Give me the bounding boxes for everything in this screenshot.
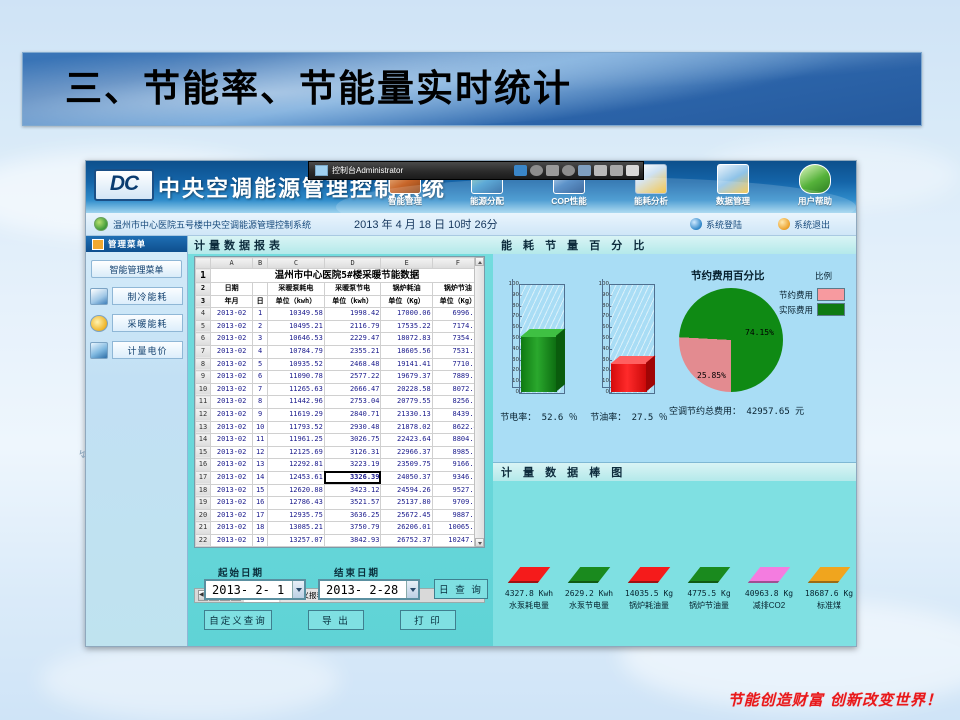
row-number[interactable]: 17 [196,471,211,484]
cell-pump-power[interactable]: 12786.43 [268,497,325,510]
header-cell: 单位（Kg） [381,295,432,308]
start-date-label: 起始日期 [218,565,264,579]
col-letter[interactable]: C [268,258,325,269]
cell-year-month[interactable]: 2013-02 [211,434,253,447]
energy-percentage-title: 能 耗 节 量 百 分 比 [493,236,856,254]
table-row[interactable]: 82013-02510935.522468.4819141.417710.23 [196,358,484,371]
table-row[interactable]: 62013-02310646.532229.4718072.837354.04 [196,333,484,346]
table-row[interactable]: 222013-021913257.073842.9326752.3710247.… [196,534,484,547]
cell-year-month[interactable]: 2013-02 [211,320,253,333]
header-cell: 日期 [211,283,253,296]
sidebar-item-cooling-consumption[interactable]: 制冷能耗 [90,287,183,305]
nav-label: COP性能 [532,195,606,207]
folder-icon[interactable] [546,165,559,176]
console-tool-icons[interactable] [514,165,643,176]
cell-pump-power[interactable]: 12620.88 [268,484,325,497]
console-titlebar[interactable]: 控制台Administrator [308,161,644,180]
bar-label: 锅炉耗油量 [619,600,679,611]
corner-cell [196,258,211,269]
vertical-scrollbar[interactable] [474,257,484,547]
console-title: 控制台Administrator [332,165,403,176]
app-body: 管理菜单 智能管理菜单 制冷能耗 采暖能耗 计量电价 计量数据报表 [86,236,856,647]
cell-pump-saving[interactable]: 2577.22 [324,371,381,384]
cell-boiler-oil[interactable]: 18605.56 [381,345,432,358]
table-row[interactable]: 142013-021111961.253026.7522423.648804.3… [196,434,484,447]
slide-footer: 节能创造财富 创新改变世界！ [728,689,942,710]
gauge-frame [609,284,655,394]
metering-bar-item: 18687.6 Kg标准煤 [799,567,857,611]
report-panel: 计量数据报表 A B C D E F [188,236,493,647]
row-number[interactable]: 6 [196,333,211,346]
legend-label: 节约费用 [779,289,813,301]
move-icon[interactable] [578,165,591,176]
metering-bar-title: 计 量 数 据 棒 图 [493,463,856,481]
monitor-icon [315,165,328,176]
sidebar-item-intelligent-menu[interactable]: 智能管理菜单 [91,260,182,278]
cell-year-month[interactable]: 2013-02 [211,459,253,472]
cell-boiler-oil[interactable]: 20779.55 [381,396,432,409]
table-row[interactable]: 102013-02711265.632666.4720228.588072.62 [196,383,484,396]
cell-pump-power[interactable]: 11793.52 [268,421,325,434]
cell-boiler-oil[interactable]: 17535.22 [381,320,432,333]
cell-pump-power[interactable]: 10349.58 [268,308,325,321]
sun-icon [90,315,108,332]
cell-pump-power[interactable]: 13085.21 [268,522,325,535]
app-logo: DC [94,169,154,201]
cell-pump-saving[interactable]: 2753.04 [324,396,381,409]
gauge-frame [519,284,565,394]
site-name: 温州市中心医院五号楼中央空调能源管理控制系统 [113,218,311,231]
cell-day[interactable]: 13 [253,459,268,472]
energy-percentage-panel: 能 耗 节 量 百 分 比 10090 8070 6050 4030 2010 … [493,236,856,463]
sidebar-item-heating-consumption[interactable]: 采暖能耗 [90,314,183,332]
table-row[interactable]: 152013-021212125.693126.3122966.378985.2… [196,446,484,459]
cell-pump-power[interactable]: 11265.63 [268,383,325,396]
header-row-1: 2 日期 采暖泵耗电 采暖泵节电 锅炉耗油 锅炉节油 [196,283,484,296]
cell-pump-power[interactable]: 11619.29 [268,408,325,421]
cell-pump-saving[interactable]: 1998.42 [324,308,381,321]
sidebar-item-label: 采暖能耗 [112,314,183,332]
nav-item-data-management[interactable]: 数据管理 [696,163,770,207]
cell-pump-saving[interactable]: 3842.93 [324,534,381,547]
metering-bar-item: 2629.2 Kwh水泵节电量 [559,567,619,611]
logout-icon [778,218,790,230]
cell-year-month[interactable]: 2013-02 [211,534,253,547]
total-savings-text: 空调节约总费用： 42957.65 元 [669,404,804,417]
cell-pump-saving[interactable]: 3126.31 [324,446,381,459]
scroll-up-icon[interactable] [475,257,484,266]
cell-boiler-oil[interactable]: 24050.37 [381,471,432,484]
cell-year-month[interactable]: 2013-02 [211,497,253,510]
cell-pump-saving[interactable]: 2930.48 [324,421,381,434]
header-cell: 锅炉耗油 [381,283,432,296]
gauge-bar-oil [611,363,647,392]
table-row[interactable]: 112013-02811442.962753.0420779.558256.28 [196,396,484,409]
sidebar-header: 管理菜单 [86,236,187,252]
cell-year-month[interactable]: 2013-02 [211,345,253,358]
end-date-value: 2013- 2-28 [326,583,398,597]
table-row[interactable]: 132013-021011793.522930.4821878.028622.4… [196,421,484,434]
nav-label: 智能管理 [368,195,442,207]
cell-pump-power[interactable]: 10495.21 [268,320,325,333]
system-login-label: 系统登陆 [706,218,742,231]
sub-header: 温州市中心医院五号楼中央空调能源管理控制系统 2013 年 4 月 18 日 1… [86,213,856,236]
table-row[interactable]: 192013-021612786.433521.5725137.809709.0… [196,497,484,510]
row-number[interactable]: 19 [196,497,211,510]
report-panel-title: 计量数据报表 [188,236,493,254]
cell-pump-saving[interactable]: 2229.47 [324,333,381,346]
sidebar-item-label: 计量电价 [112,341,183,359]
cell-pump-saving[interactable]: 3223.19 [324,459,381,472]
power-saving-caption: 节电率： 52.6 ％ [491,410,587,423]
table-row[interactable]: 122013-02911619.292840.7121330.138439.81 [196,408,484,421]
globe-icon [94,217,108,231]
col-letter[interactable]: A [211,258,253,269]
bar-label: 水泵耗电量 [499,600,559,611]
start-date-value: 2013- 2- 1 [212,583,284,597]
table-row[interactable]: 92013-02611090.782577.2219679.377889.55 [196,371,484,384]
sidebar-header-label: 管理菜单 [108,238,146,250]
table-row[interactable]: 52013-02210495.212116.7917535.227174.84 [196,320,484,333]
col-letter[interactable]: E [381,258,432,269]
end-date-input[interactable]: 2013- 2-28 [318,579,420,600]
row-number[interactable]: 11 [196,396,211,409]
row-number[interactable]: 21 [196,522,211,535]
col-letter[interactable]: D [324,258,381,269]
bar-value: 18687.6 Kg [799,589,857,598]
cell-day[interactable]: 19 [253,534,268,547]
page-title: 三、节能率、节能量实时统计 [23,53,921,125]
chevron-down-icon[interactable] [406,581,418,598]
cell-pump-power[interactable]: 12935.75 [268,509,325,522]
cell-pump-saving[interactable]: 2840.71 [324,408,381,421]
cell-pump-power[interactable]: 10935.52 [268,358,325,371]
row-number[interactable]: 15 [196,446,211,459]
row-number[interactable]: 3 [196,295,211,308]
gauge-oil-saving: 10090 8070 6050 4030 2010 0 [593,278,659,402]
cell-boiler-oil[interactable]: 22423.64 [381,434,432,447]
table-row[interactable]: 182013-021512620.883423.1224594.269527.8… [196,484,484,497]
table-row[interactable]: 72013-02410784.792355.2118605.567531.62 [196,345,484,358]
decorative-mark: ↯ [78,448,87,461]
header-cell [253,283,268,296]
sheet-title: 温州市中心医院5#楼采暖节能数据 [211,269,484,283]
cell-pump-power[interactable]: 11442.96 [268,396,325,409]
cell-day[interactable]: 3 [253,333,268,346]
cell-year-month[interactable]: 2013-02 [211,408,253,421]
cell-day[interactable]: 4 [253,345,268,358]
cell-boiler-oil[interactable]: 20228.58 [381,383,432,396]
menu-icon [92,239,104,250]
meter-icon [90,342,108,359]
row-number[interactable]: 10 [196,383,211,396]
bar-value: 4327.8 Kwh [499,589,559,598]
cell-pump-saving[interactable]: 3636.25 [324,509,381,522]
pie-legend-title: 比例 [815,270,832,282]
cell-day[interactable]: 10 [253,421,268,434]
header-cell: 日 [253,295,268,308]
cell-year-month[interactable]: 2013-02 [211,484,253,497]
cell-pump-saving[interactable]: 3026.75 [324,434,381,447]
bar-shape [688,567,731,583]
table-row[interactable]: 162013-021312292.813223.1923509.759166.3… [196,459,484,472]
row-number[interactable]: 16 [196,459,211,472]
header-cell: 单位（kwh） [268,295,325,308]
cell-day[interactable]: 8 [253,396,268,409]
speaker-icon[interactable] [626,165,639,176]
legend-label: 实际费用 [779,304,813,316]
cell-pump-saving[interactable]: 2468.48 [324,358,381,371]
user-help-icon [799,164,831,194]
cell-boiler-oil[interactable]: 17000.06 [381,308,432,321]
header-cell: 年月 [211,295,253,308]
cell-pump-saving[interactable]: 3750.79 [324,522,381,535]
sidebar-item-metering-price[interactable]: 计量电价 [90,341,183,359]
cell-year-month[interactable]: 2013-02 [211,308,253,321]
bar-label: 水泵节电量 [559,600,619,611]
cell-year-month[interactable]: 2013-02 [211,446,253,459]
login-icon [690,218,702,230]
cell-day[interactable]: 2 [253,320,268,333]
metering-bar-item: 14035.5 Kg锅炉耗油量 [619,567,679,611]
chevron-down-icon[interactable] [292,581,304,598]
current-datetime: 2013 年 4 月 18 日 10时 26分 [354,216,498,232]
cell-pump-power[interactable]: 13257.07 [268,534,325,547]
savings-pie-chart [679,288,783,392]
row-number[interactable]: 4 [196,308,211,321]
cell-boiler-oil[interactable]: 23509.75 [381,459,432,472]
select-icon[interactable] [610,165,623,176]
bar-shape [568,567,611,583]
cell-boiler-oil[interactable]: 21330.13 [381,408,432,421]
column-letters-row: A B C D E F [196,258,484,269]
cell-year-month[interactable]: 2013-02 [211,333,253,346]
cell-boiler-oil[interactable]: 25137.80 [381,497,432,510]
hand-icon[interactable] [594,165,607,176]
row-number[interactable]: 9 [196,371,211,384]
bar-shape [508,567,551,583]
cell-day[interactable]: 17 [253,509,268,522]
bar-label: 减排CO2 [739,600,799,611]
query-controls: 起始日期 结束日期 2013- 2- 1 2013- 2-28 日 查 询 自定… [194,563,485,647]
scroll-down-icon[interactable] [475,538,484,547]
spreadsheet-data-rows: 42013-02110349.581998.4217000.066996.635… [196,308,484,547]
cell-year-month[interactable]: 2013-02 [211,358,253,371]
cell-pump-power[interactable]: 12125.69 [268,446,325,459]
spreadsheet-body: 1 温州市中心医院5#楼采暖节能数据 2 日期 采暖泵耗电 采暖泵节电 锅炉耗油… [196,269,484,308]
legend-item-saving: 节约费用 [779,288,845,301]
gauge-bar-power [521,336,557,392]
bar-shape [808,567,851,583]
nav-label: 能耗分析 [614,195,688,207]
bar-value: 14035.5 Kg [619,589,679,598]
custom-query-button[interactable]: 自定义查询 [204,610,272,630]
system-login-button[interactable]: 系统登陆 [690,218,742,231]
metering-bar-item: 40963.8 Kg减排CO2 [739,567,799,611]
bar-shape [748,567,791,583]
row-number[interactable]: 12 [196,408,211,421]
bar-value: 4775.5 Kg [679,589,739,598]
cell-day[interactable]: 15 [253,484,268,497]
mouse-icon[interactable] [530,165,543,176]
cell-pump-power[interactable]: 12453.61 [268,471,325,484]
cell-day[interactable]: 9 [253,408,268,421]
oil-saving-caption: 节油率： 27.5 ％ [581,410,677,423]
cell-day[interactable]: 14 [253,471,268,484]
cell-year-month[interactable]: 2013-02 [211,421,253,434]
application-window: 控制台Administrator DC 中央空调能源管理控制系统 智能管理 能源… [85,160,857,647]
end-date-label: 结束日期 [334,565,380,579]
monitor-icon[interactable] [514,165,527,176]
cell-boiler-oil[interactable]: 26752.37 [381,534,432,547]
day-query-button[interactable]: 日 查 询 [434,579,488,599]
cell-pump-power[interactable]: 11090.78 [268,371,325,384]
table-row[interactable]: 212013-021813085.213750.7926206.0110065.… [196,522,484,535]
row-number[interactable]: 22 [196,534,211,547]
sheet-title-row: 1 温州市中心医院5#楼采暖节能数据 [196,269,484,283]
table-row[interactable]: 172013-021412453.613326.3924050.379346.5… [196,471,484,484]
cell-day[interactable]: 6 [253,371,268,384]
cell-boiler-oil[interactable]: 26206.01 [381,522,432,535]
sidebar-item-label: 制冷能耗 [112,287,183,305]
row-number[interactable]: 20 [196,509,211,522]
cell-pump-saving[interactable]: 2355.21 [324,345,381,358]
cell-boiler-oil[interactable]: 19141.41 [381,358,432,371]
spreadsheet-table[interactable]: A B C D E F 1 温州市中心医院5#楼采暖节能数据 [195,257,484,547]
legend-item-actual: 实际费用 [779,303,845,316]
sidebar: 管理菜单 智能管理菜单 制冷能耗 采暖能耗 计量电价 [86,236,188,647]
cell-year-month[interactable]: 2013-02 [211,509,253,522]
export-button[interactable]: 导 出 [308,610,364,630]
header-cell: 单位（kwh） [324,295,381,308]
nav-label: 数据管理 [696,195,770,207]
metering-bar-item: 4775.5 Kg锅炉节油量 [679,567,739,611]
system-logout-button[interactable]: 系统退出 [778,218,830,231]
header-cell: 采暖泵耗电 [268,283,325,296]
spreadsheet[interactable]: A B C D E F 1 温州市中心医院5#楼采暖节能数据 [194,256,485,548]
pie-label-actual: 74.15% [745,328,774,337]
row-number[interactable]: 18 [196,484,211,497]
bar-label: 锅炉节油量 [679,600,739,611]
bar-value: 40963.8 Kg [739,589,799,598]
row-number[interactable]: 14 [196,434,211,447]
chart-icon [90,288,108,305]
row-number[interactable]: 8 [196,358,211,371]
start-date-input[interactable]: 2013- 2- 1 [204,579,306,600]
cell-year-month[interactable]: 2013-02 [211,522,253,535]
cell-pump-saving[interactable]: 3326.39 [324,471,381,484]
col-letter[interactable]: B [253,258,268,269]
cell-day[interactable]: 5 [253,358,268,371]
cloud-decoration [40,640,340,720]
cell-pump-saving[interactable]: 3423.12 [324,484,381,497]
table-row[interactable]: 202013-021712935.753636.2525672.459887.2… [196,509,484,522]
row-number[interactable]: 7 [196,345,211,358]
metering-bar-item: 4327.8 Kwh水泵耗电量 [499,567,559,611]
header-cell: 采暖泵节电 [324,283,381,296]
cell-day[interactable]: 12 [253,446,268,459]
bar-label: 标准煤 [799,600,857,611]
cell-year-month[interactable]: 2013-02 [211,371,253,384]
cell-boiler-oil[interactable]: 19679.37 [381,371,432,384]
row-number[interactable]: 2 [196,283,211,296]
row-number[interactable]: 1 [196,269,211,283]
cell-year-month[interactable]: 2013-02 [211,396,253,409]
cell-boiler-oil[interactable]: 21878.02 [381,421,432,434]
cell-day[interactable]: 1 [253,308,268,321]
cell-pump-power[interactable]: 10646.53 [268,333,325,346]
legend-swatch [817,288,845,301]
cell-boiler-oil[interactable]: 25672.45 [381,509,432,522]
metering-bar-panel: 计 量 数 据 棒 图 4327.8 Kwh水泵耗电量2629.2 Kwh水泵节… [493,463,856,647]
cell-boiler-oil[interactable]: 18072.83 [381,333,432,346]
cell-day[interactable]: 16 [253,497,268,510]
cell-day[interactable]: 18 [253,522,268,535]
cell-boiler-oil[interactable]: 24594.26 [381,484,432,497]
cell-pump-saving[interactable]: 2116.79 [324,320,381,333]
cell-day[interactable]: 7 [253,383,268,396]
cell-pump-power[interactable]: 10784.79 [268,345,325,358]
gauge-power-saving: 10090 8070 6050 4030 2010 0 [503,278,569,402]
bar-value: 2629.2 Kwh [559,589,619,598]
cell-pump-saving[interactable]: 2666.47 [324,383,381,396]
slide-title-banner: 三、节能率、节能量实时统计 [22,52,922,126]
row-number[interactable]: 5 [196,320,211,333]
cell-pump-power[interactable]: 12292.81 [268,459,325,472]
print-button[interactable]: 打 印 [400,610,456,630]
cell-pump-saving[interactable]: 3521.57 [324,497,381,510]
cell-pump-power[interactable]: 11961.25 [268,434,325,447]
bar-shape [628,567,671,583]
table-row[interactable]: 42013-02110349.581998.4217000.066996.63 [196,308,484,321]
pointer-icon[interactable] [562,165,575,176]
cell-year-month[interactable]: 2013-02 [211,471,253,484]
pie-label-saving: 25.85% [697,371,726,380]
system-logout-label: 系统退出 [794,218,830,231]
legend-swatch [817,303,845,316]
cell-year-month[interactable]: 2013-02 [211,383,253,396]
cell-boiler-oil[interactable]: 22966.37 [381,446,432,459]
pie-chart-title: 节约费用百分比 [691,268,765,283]
nav-label: 能源分配 [450,195,524,207]
header-row-2: 3 年月 日 单位（kwh） 单位（kwh） 单位（Kg） 单位（Kg） [196,295,484,308]
row-number[interactable]: 13 [196,421,211,434]
cell-day[interactable]: 11 [253,434,268,447]
nav-item-user-help[interactable]: 用户帮助 [778,163,852,207]
nav-label: 用户帮助 [778,195,852,207]
charts-column: 能 耗 节 量 百 分 比 10090 8070 6050 4030 2010 … [493,236,856,647]
folder-data-icon [717,164,749,194]
